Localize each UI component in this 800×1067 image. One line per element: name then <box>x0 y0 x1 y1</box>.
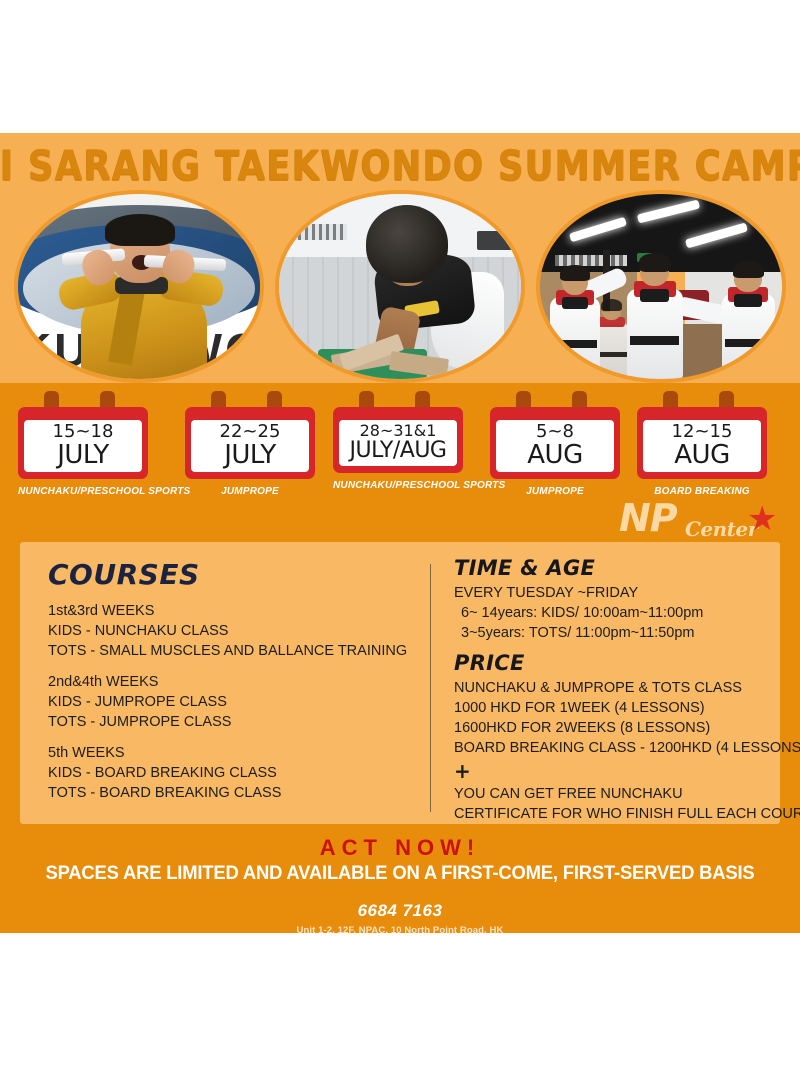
poster-page: I SARANG TAEKWONDO SUMMER CAMP KUKKIWON <box>0 0 800 1067</box>
calendar-icon: 28~31&1 JULY/AUG <box>333 407 463 473</box>
courses-column: COURSES 1st&3rd WEEKS KIDS - NUNCHAKU CL… <box>48 558 428 803</box>
price-week1: 1000 HKD FOR 1WEEK (4 LESSONS) <box>454 698 774 718</box>
np-center-logo: NP Center ★ <box>607 498 782 548</box>
star-icon: ★ <box>747 502 777 536</box>
course-weeks: 5th WEEKS <box>48 743 428 763</box>
course-line: TOTS - JUMPROPE CLASS <box>48 712 428 732</box>
bonus-line-2: CERTIFICATE FOR WHO FINISH FULL EACH COU… <box>454 804 774 824</box>
summer-camp-poster: I SARANG TAEKWONDO SUMMER CAMP KUKKIWON <box>0 133 800 933</box>
details-column: TIME & AGE EVERY TUESDAY ~FRIDAY 6~ 14ye… <box>454 556 774 824</box>
schedule-caption: JUMPROPE <box>490 486 620 497</box>
course-weeks: 2nd&4th WEEKS <box>48 672 428 692</box>
course-group: 2nd&4th WEEKS KIDS - JUMPROPE CLASS TOTS… <box>48 672 428 732</box>
photo-child-board-breaking <box>275 190 525 383</box>
calendar-rings <box>18 391 148 407</box>
schedule-card[interactable]: 5~8 AUG JUMPROPE <box>490 391 620 497</box>
poster-header-band: I SARANG TAEKWONDO SUMMER CAMP KUKKIWON <box>0 133 800 383</box>
schedule-caption: NUNCHAKU/PRESCHOOL SPORTS <box>333 480 463 491</box>
info-panel: COURSES 1st&3rd WEEKS KIDS - NUNCHAKU CL… <box>20 542 780 824</box>
schedule-card[interactable]: 15~18 JULY NUNCHAKU/PRESCHOOL SPORTS <box>18 391 148 497</box>
calendar-rings <box>637 391 767 407</box>
course-line: TOTS - SMALL MUSCLES AND BALLANCE TRAINI… <box>48 641 428 661</box>
time-days: EVERY TUESDAY ~FRIDAY <box>454 583 774 603</box>
course-line: KIDS - BOARD BREAKING CLASS <box>48 763 428 783</box>
column-divider <box>430 564 431 812</box>
courses-heading: COURSES <box>48 558 428 591</box>
calendar-rings <box>333 391 463 407</box>
photo-instructor-nunchaku-demo: KUKKIWON <box>14 190 264 383</box>
date-month: AUG <box>498 442 612 468</box>
time-age-heading: TIME & AGE <box>454 556 774 580</box>
logo-np-text: NP <box>619 496 677 540</box>
plus-icon: + <box>454 760 774 782</box>
call-to-action: ACT NOW! SPACES ARE LIMITED AND AVAILABL… <box>0 830 800 933</box>
schedule-caption: JUMPROPE <box>185 486 315 497</box>
photo-2-artwork <box>279 194 521 379</box>
schedule-strip: 15~18 JULY NUNCHAKU/PRESCHOOL SPORTS 22~… <box>0 383 800 503</box>
calendar-icon: 12~15 AUG <box>637 407 767 479</box>
price-classes: NUNCHAKU & JUMPROPE & TOTS CLASS <box>454 678 774 698</box>
price-week2: 1600HKD FOR 2WEEKS (8 LESSONS) <box>454 718 774 738</box>
poster-title: I SARANG TAEKWONDO SUMMER CAMP <box>0 143 800 190</box>
calendar-rings <box>490 391 620 407</box>
photo-row: KUKKIWON <box>0 190 800 383</box>
date-month: JULY <box>193 442 307 468</box>
time-kids: 6~ 14years: KIDS/ 10:00am~11:00pm <box>454 603 774 623</box>
date-month: JULY/AUG <box>341 440 455 462</box>
spaces-limited-text: SPACES ARE LIMITED AND AVAILABLE ON A FI… <box>12 863 788 885</box>
calendar-rings <box>185 391 315 407</box>
bonus-line-1: YOU CAN GET FREE NUNCHAKU <box>454 784 774 804</box>
course-line: KIDS - NUNCHAKU CLASS <box>48 621 428 641</box>
schedule-card[interactable]: 22~25 JULY JUMPROPE <box>185 391 315 497</box>
act-now-text: ACT NOW! <box>0 835 800 861</box>
date-month: AUG <box>645 442 759 468</box>
contact-phone[interactable]: 6684 7163 <box>0 901 800 921</box>
date-month: JULY <box>26 442 140 468</box>
calendar-icon: 15~18 JULY <box>18 407 148 479</box>
course-group: 1st&3rd WEEKS KIDS - NUNCHAKU CLASS TOTS… <box>48 601 428 661</box>
course-line: TOTS - BOARD BREAKING CLASS <box>48 783 428 803</box>
course-weeks: 1st&3rd WEEKS <box>48 601 428 621</box>
photo-kids-class-kicking <box>536 190 786 383</box>
photo-3-artwork <box>540 194 782 379</box>
schedule-card[interactable]: 28~31&1 JULY/AUG NUNCHAKU/PRESCHOOL SPOR… <box>333 391 463 491</box>
schedule-card[interactable]: 12~15 AUG BOARD BREAKING <box>637 391 767 497</box>
calendar-icon: 5~8 AUG <box>490 407 620 479</box>
time-tots: 3~5years: TOTS/ 11:00pm~11:50pm <box>454 623 774 643</box>
contact-address: Unit 1-2, 12F, NPAC, 10 North Point Road… <box>0 925 800 933</box>
price-board: BOARD BREAKING CLASS - 1200HKD (4 LESSON… <box>454 738 774 758</box>
course-group: 5th WEEKS KIDS - BOARD BREAKING CLASS TO… <box>48 743 428 803</box>
schedule-caption: NUNCHAKU/PRESCHOOL SPORTS <box>18 486 148 497</box>
course-line: KIDS - JUMPROPE CLASS <box>48 692 428 712</box>
calendar-icon: 22~25 JULY <box>185 407 315 479</box>
photo-1-artwork: KUKKIWON <box>18 194 260 379</box>
price-heading: PRICE <box>454 651 774 675</box>
